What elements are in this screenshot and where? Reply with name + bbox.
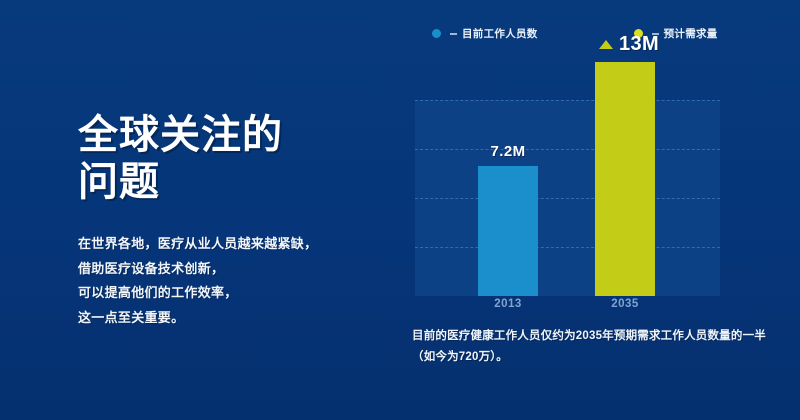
axis-tick-2013: 2013 [478,298,538,310]
legend-label-current-workers: 目前工作人员数 [462,26,538,41]
chart-caption: 目前的医疗健康工作人员仅约为2035年预期需求工作人员数量的一半 （如今为720… [412,326,782,369]
bar-value-label-2035: 13M [619,33,659,56]
bar-value-label-2035-group: 13M [581,33,677,56]
caption-line-1: 目前的医疗健康工作人员仅约为2035年预期需求工作人员数量的一半 [412,326,782,347]
body-line-1: 在世界各地，医疗从业人员越来越紧缺， [78,232,378,256]
body-line-3: 可以提高他们的工作效率， [78,281,378,305]
body-paragraph: 在世界各地，医疗从业人员越来越紧缺， 借助医疗设备技术创新， 可以提高他们的工作… [78,232,378,330]
headline-line-1: 全球关注的 [78,113,283,157]
bar-value-label-2013: 7.2M [478,143,538,160]
bar-2035[interactable] [595,62,655,296]
headline-line-2: 问题 [78,159,378,206]
legend-item-current-workers[interactable]: 目前工作人员数 [432,26,538,41]
legend-color-dot-blue-icon [432,29,441,38]
chart-x-axis: 2013 2035 [415,298,720,316]
legend-dash-separator-icon [450,33,457,35]
chart-bars-area: 7.2M 13M [415,62,720,296]
page-title: 全球关注的 问题 [78,112,378,206]
triangle-up-icon [599,40,613,49]
body-line-2: 借助医疗设备技术创新， [78,257,378,281]
bar-2013[interactable] [478,166,538,296]
caption-line-2: （如今为720万）。 [412,347,782,368]
slide-canvas: 全球关注的 问题 在世界各地，医疗从业人员越来越紧缺， 借助医疗设备技术创新， … [0,0,800,420]
axis-tick-2035: 2035 [595,298,655,310]
left-text-column: 全球关注的 问题 在世界各地，医疗从业人员越来越紧缺， 借助医疗设备技术创新， … [78,112,378,330]
body-line-4: 这一点至关重要。 [78,306,378,330]
